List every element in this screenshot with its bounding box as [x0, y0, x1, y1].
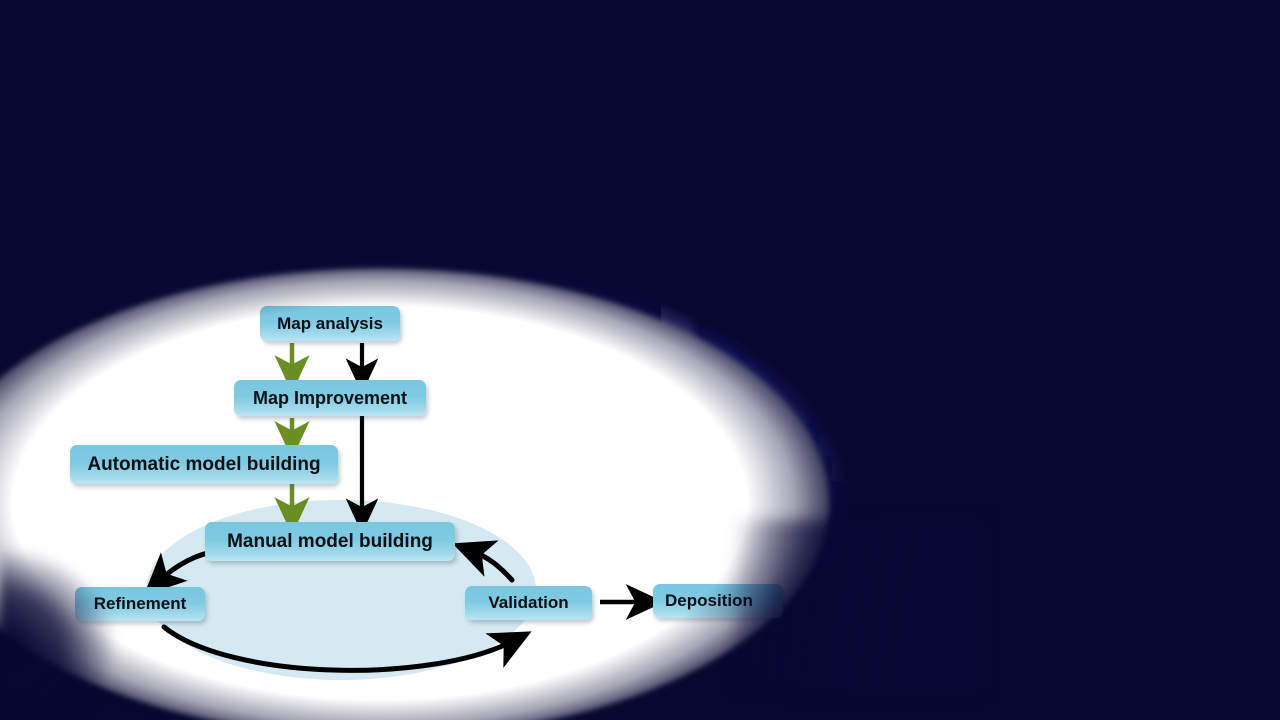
node-manual-model-building-label: Manual model building: [227, 531, 433, 553]
node-refinement[interactable]: Refinement: [75, 587, 205, 621]
cryoem-workflow-diagram: Map analysis Map Improvement Automatic m…: [0, 0, 1280, 720]
node-map-analysis-label: Map analysis: [277, 314, 383, 334]
slide-canvas: { "slide": { "title": "Cryo-EM tools", "…: [0, 0, 1280, 720]
node-validation[interactable]: Validation: [465, 586, 592, 620]
edge-refinement-to-validation: [164, 627, 513, 670]
node-refinement-label: Refinement: [94, 594, 187, 614]
node-validation-label: Validation: [488, 593, 568, 613]
node-deposition-label: Deposition: [665, 591, 753, 611]
node-automatic-model-building-label: Automatic model building: [87, 454, 320, 476]
edge-validation-to-manual-building: [472, 551, 512, 580]
node-deposition[interactable]: Deposition: [653, 584, 783, 618]
node-map-improvement[interactable]: Map Improvement: [234, 380, 426, 416]
node-map-improvement-label: Map Improvement: [253, 388, 407, 409]
node-map-analysis[interactable]: Map analysis: [260, 306, 400, 341]
node-automatic-model-building[interactable]: Automatic model building: [70, 445, 338, 484]
node-manual-model-building[interactable]: Manual model building: [205, 522, 455, 561]
